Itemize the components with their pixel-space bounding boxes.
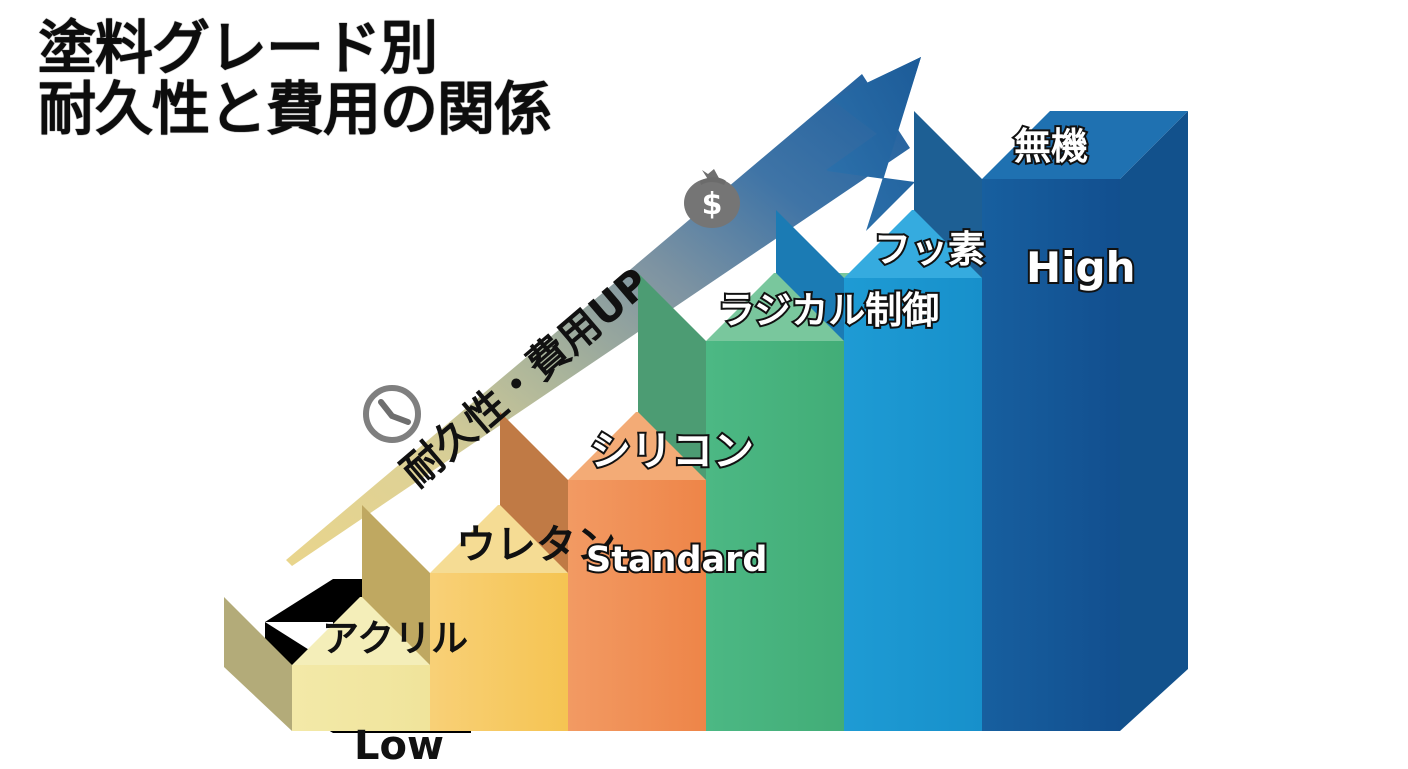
svg-text:$: $: [702, 187, 723, 222]
bar-front-face: [844, 278, 982, 731]
page-title: 塗料グレード別耐久性と費用の関係: [38, 18, 551, 141]
bar-front-face: [292, 665, 430, 731]
title-line-1: 塗料グレード別: [38, 14, 437, 82]
infographic-canvas: $ 塗料グレード別耐久性と費用の関係 耐久性・費用UP アクリルLowウレタンシ…: [0, 0, 1408, 768]
bar-front-face: [706, 341, 844, 731]
title-line-2: 耐久性と費用の関係: [38, 75, 551, 143]
bar-front-face: [430, 573, 568, 731]
bar-front-face: [568, 480, 706, 731]
money-bag-icon: $: [684, 169, 740, 228]
bar-front-face: [982, 179, 1120, 731]
bar-right-face: [1120, 111, 1188, 731]
